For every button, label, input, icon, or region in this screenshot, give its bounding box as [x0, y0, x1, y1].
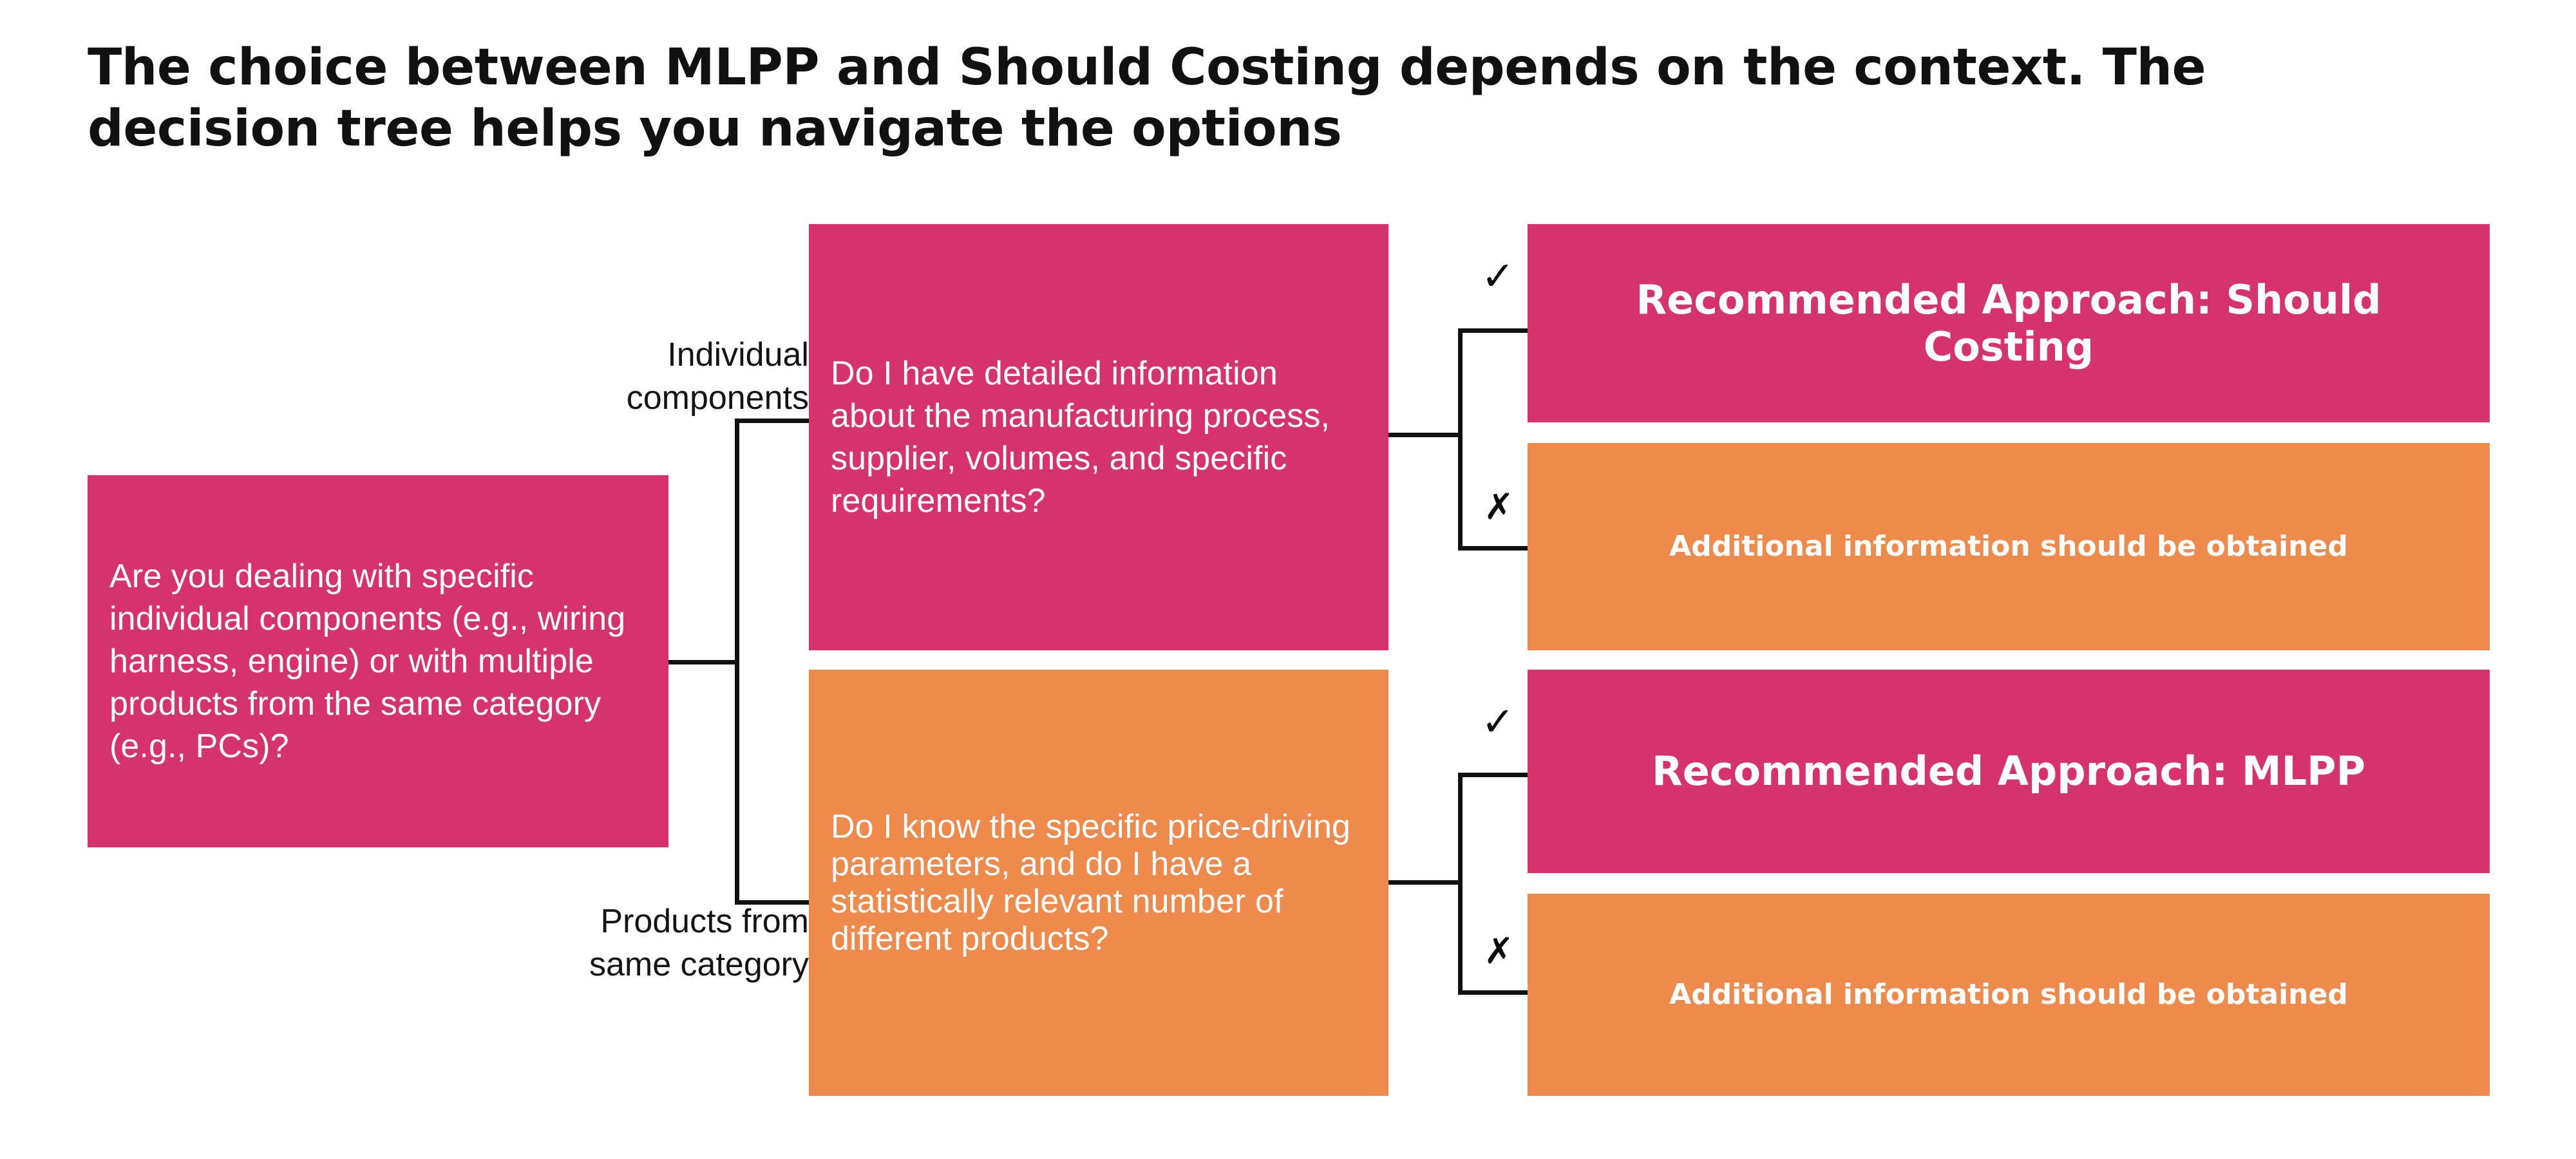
outcome-should-costing-additional-info-text: Additional information should be obtaine…: [1553, 530, 2464, 564]
check-mark-icon-lower: ✓: [1481, 702, 1515, 742]
cross-mark-icon-upper: ✗: [1484, 489, 1514, 525]
connector-lower-spine: [1458, 773, 1463, 995]
outcome-mlpp-box[interactable]: Recommended Approach: MLPP: [1528, 670, 2490, 873]
outcome-should-costing-box[interactable]: Recommended Approach: Should Costing: [1528, 224, 2490, 422]
branch-label-individual-components: Individual components: [410, 334, 809, 419]
connector-lower-yes: [1458, 773, 1530, 777]
mlpp-question-text: Do I know the specific price-driving par…: [831, 808, 1367, 958]
root-question-box[interactable]: Are you dealing with specific individual…: [88, 475, 668, 847]
connector-lower-no: [1458, 990, 1530, 995]
outcome-mlpp-additional-info-text: Additional information should be obtaine…: [1553, 978, 2464, 1012]
outcome-mlpp-text: Recommended Approach: MLPP: [1553, 748, 2464, 795]
connector-upper-spine: [1458, 328, 1463, 551]
outcome-mlpp-additional-info-box[interactable]: Additional information should be obtaine…: [1528, 894, 2490, 1096]
root-question-text: Are you dealing with specific individual…: [109, 555, 647, 768]
should-costing-question-box[interactable]: Do I have detailed information about the…: [809, 224, 1388, 650]
connector-root-out: [668, 660, 739, 664]
connector-root-spine: [735, 419, 739, 905]
check-mark-icon-upper: ✓: [1481, 256, 1515, 296]
connector-upper-yes: [1458, 328, 1530, 333]
connector-upper-out: [1388, 433, 1461, 437]
branch-label-products-same-category: Products from same category: [384, 900, 809, 986]
outcome-should-costing-additional-info-box[interactable]: Additional information should be obtaine…: [1528, 443, 2490, 650]
page-title: The choice between MLPP and Should Costi…: [88, 37, 2509, 160]
outcome-should-costing-text: Recommended Approach: Should Costing: [1553, 276, 2464, 370]
should-costing-question-text: Do I have detailed information about the…: [831, 352, 1367, 522]
mlpp-question-box[interactable]: Do I know the specific price-driving par…: [809, 670, 1388, 1096]
connector-upper-no: [1458, 546, 1530, 551]
connector-lower-out: [1388, 880, 1461, 885]
cross-mark-icon-lower: ✗: [1484, 934, 1514, 970]
